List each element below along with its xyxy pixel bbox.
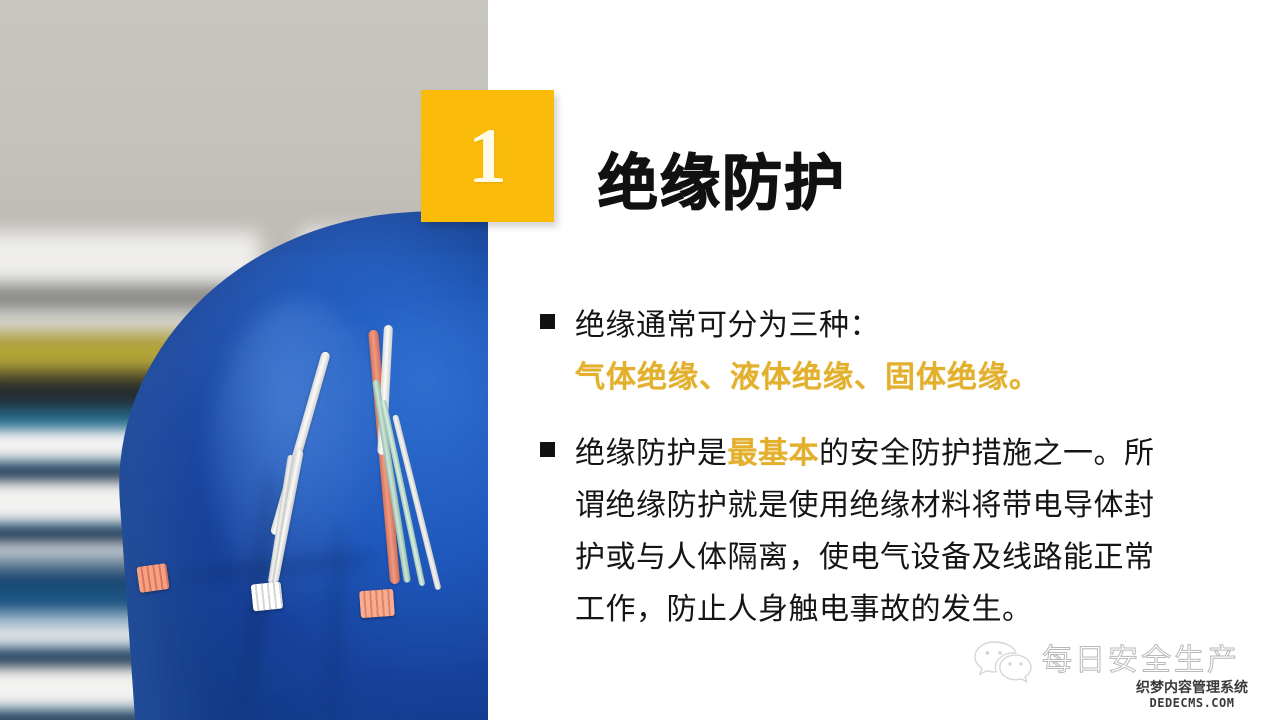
wechat-watermark-label: 每日安全生产 [1042, 646, 1240, 676]
bullet-2-part-1: 绝缘防护是 [575, 436, 728, 471]
dedecms-watermark-cn: 织梦内容管理系统 [1136, 680, 1248, 696]
bullet-1-line-1: 绝缘通常可分为三种： [575, 308, 880, 343]
bullet-item-1: 绝缘通常可分为三种： 气体绝缘、液体绝缘、固体绝缘。 [540, 300, 1180, 404]
presentation-slide: 1 绝缘防护 绝缘通常可分为三种： 气体绝缘、液体绝缘、固体绝缘。 绝缘防护是最… [0, 0, 1280, 720]
wechat-icon [972, 638, 1034, 684]
bullet-square-icon [540, 442, 555, 457]
cable-connector-orange [359, 589, 395, 618]
bullet-item-1-text: 绝缘通常可分为三种： 气体绝缘、液体绝缘、固体绝缘。 [575, 300, 1180, 404]
dedecms-watermark: 织梦内容管理系统 DEDECMS.COM [1136, 680, 1248, 710]
cable-connector-white [251, 582, 284, 612]
bullet-item-2-text: 绝缘防护是最基本的安全防护措施之一。所谓绝缘防护就是使用绝缘材料将带电导体封护或… [575, 428, 1180, 636]
cable-connector-orange [136, 563, 169, 593]
bullet-2-highlight: 最基本 [728, 436, 820, 471]
bullet-square-icon [540, 314, 555, 329]
slide-photo [0, 0, 488, 720]
dedecms-watermark-en: DEDECMS.COM [1136, 696, 1248, 710]
bullet-1-highlight-line: 气体绝缘、液体绝缘、固体绝缘。 [575, 352, 1180, 404]
section-number-text: 1 [468, 117, 507, 195]
content-body: 绝缘通常可分为三种： 气体绝缘、液体绝缘、固体绝缘。 绝缘防护是最基本的安全防护… [540, 300, 1180, 636]
section-number-badge: 1 [421, 90, 554, 222]
page-title: 绝缘防护 [598, 146, 846, 222]
wechat-watermark: 每日安全生产 [972, 638, 1240, 684]
bullet-item-2: 绝缘防护是最基本的安全防护措施之一。所谓绝缘防护就是使用绝缘材料将带电导体封护或… [540, 428, 1180, 636]
